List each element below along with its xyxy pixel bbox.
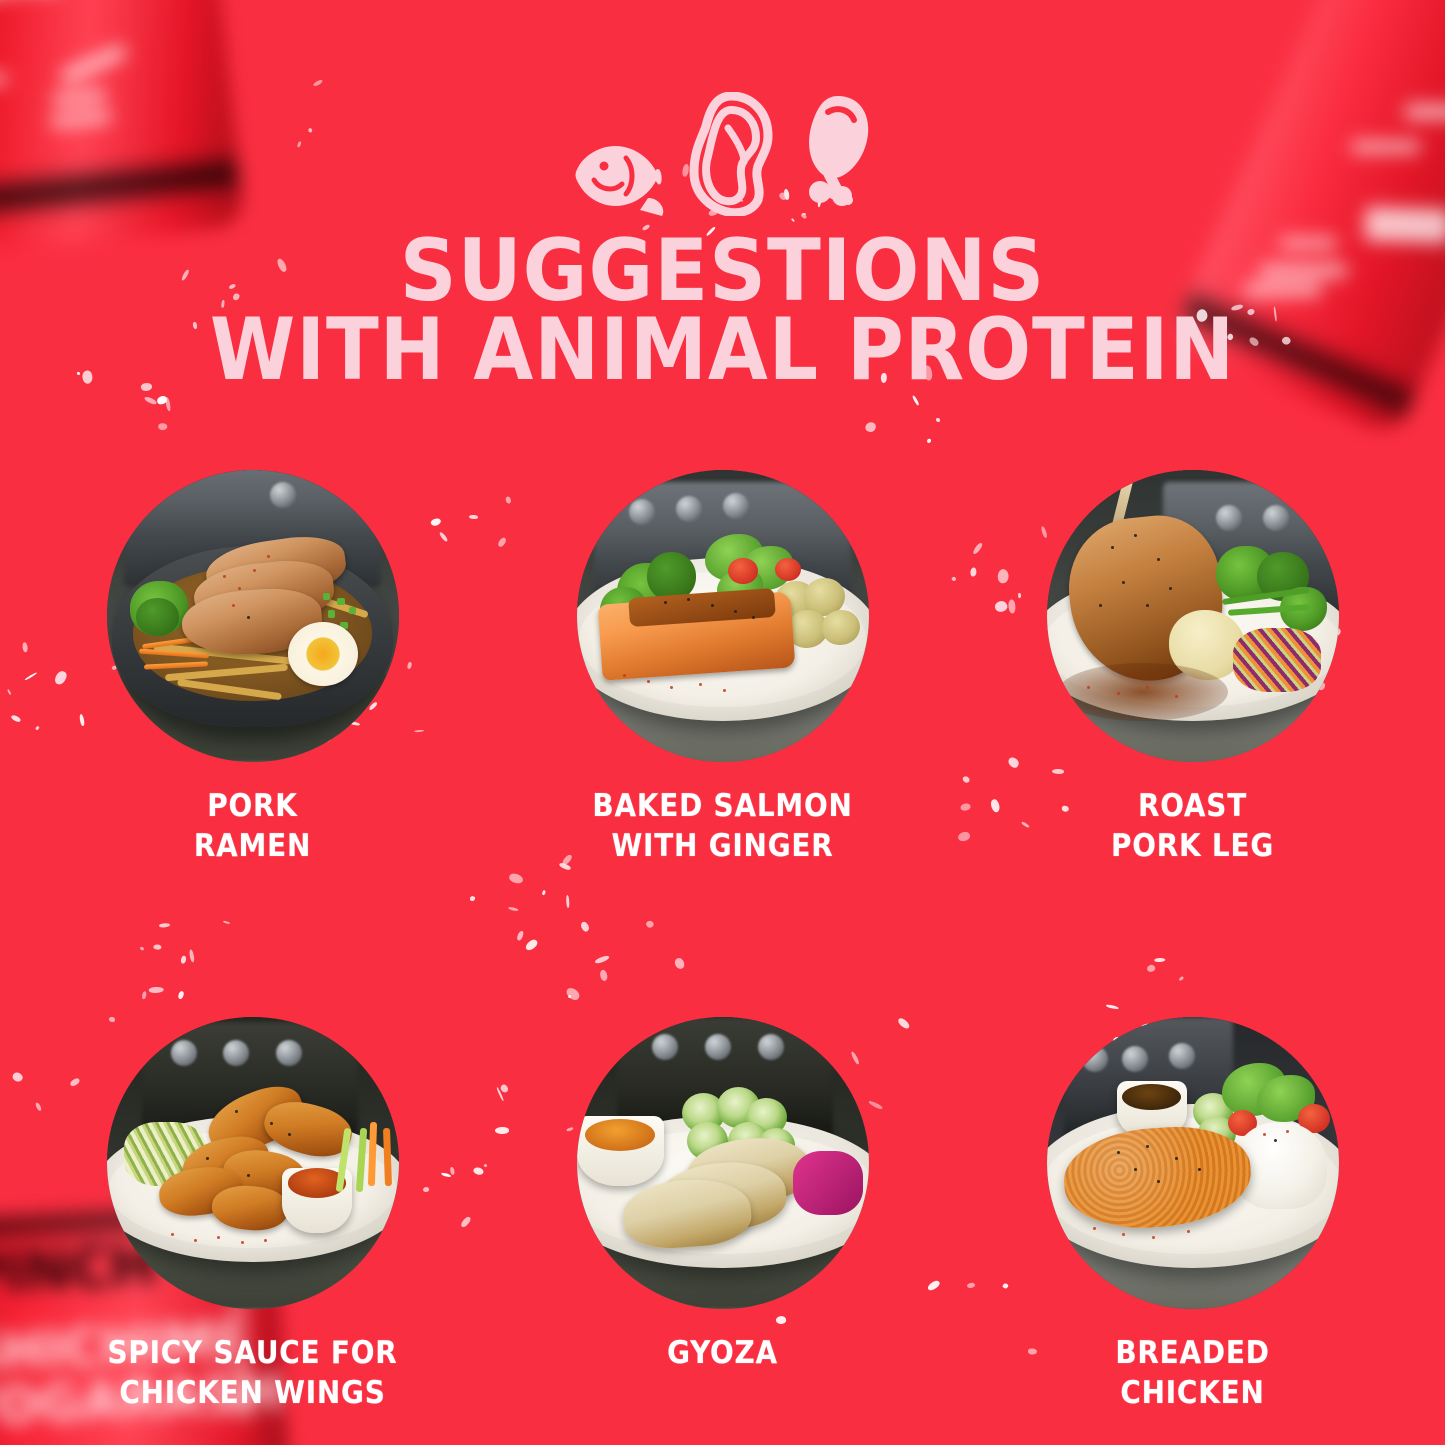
dish-photo-baked-salmon-ginger [577, 470, 869, 762]
dish-card-gyoza[interactable]: GYOZA [573, 1017, 873, 1414]
speckle-fleck [927, 439, 931, 444]
dish-row-2: SPICY SAUCE FOR CHICKEN WINGS [0, 1017, 1445, 1414]
chicken-drumstick-icon [796, 92, 876, 216]
dish-grid: PORK RAMEN [0, 470, 1445, 1413]
speckle-fleck [157, 422, 167, 431]
dish-row-1: PORK RAMEN [0, 470, 1445, 867]
speckle-fleck [312, 79, 323, 87]
dish-photo-pork-ramen [107, 470, 399, 762]
dish-caption: BREADED CHICKEN [1115, 1333, 1269, 1414]
dish-card-spicy-sauce-wings[interactable]: SPICY SAUCE FOR CHICKEN WINGS [103, 1017, 403, 1414]
speckle-fleck [165, 396, 172, 411]
poster-header: SUGGESTIONS WITH ANIMAL PROTEIN [0, 96, 1445, 390]
page-title: SUGGESTIONS WITH ANIMAL PROTEIN [0, 232, 1445, 390]
speckle-fleck [144, 396, 158, 405]
dish-caption: SPICY SAUCE FOR CHICKEN WINGS [107, 1333, 397, 1414]
dish-caption: PORK RAMEN [194, 786, 311, 867]
dish-card-pork-ramen[interactable]: PORK RAMEN [103, 470, 403, 867]
protein-icon-group [0, 96, 1445, 216]
poster-root: SHI THE PINCH SHICHIMI TOGARASHI [0, 0, 1445, 1445]
dish-caption: BAKED SALMON WITH GINGER [592, 786, 852, 867]
dish-photo-gyoza [577, 1017, 869, 1309]
dish-card-roast-pork-leg[interactable]: ROAST PORK LEG [1043, 470, 1343, 867]
dish-card-baked-salmon-ginger[interactable]: BAKED SALMON WITH GINGER [573, 470, 873, 867]
fish-icon [570, 140, 666, 216]
dish-caption: ROAST PORK LEG [1111, 786, 1274, 867]
title-line-1: SUGGESTIONS [0, 232, 1445, 311]
speckle-fleck [864, 421, 877, 433]
speckle-fleck [156, 396, 167, 405]
title-line-2: WITH ANIMAL PROTEIN [0, 311, 1445, 390]
dish-photo-breaded-chicken [1047, 1017, 1339, 1309]
steak-icon [688, 92, 774, 216]
speckle-fleck [936, 417, 940, 421]
dish-caption: GYOZA [667, 1333, 778, 1373]
dish-photo-spicy-sauce-wings [107, 1017, 399, 1309]
dish-photo-roast-pork-leg [1047, 470, 1339, 762]
dish-card-breaded-chicken[interactable]: BREADED CHICKEN [1043, 1017, 1343, 1414]
